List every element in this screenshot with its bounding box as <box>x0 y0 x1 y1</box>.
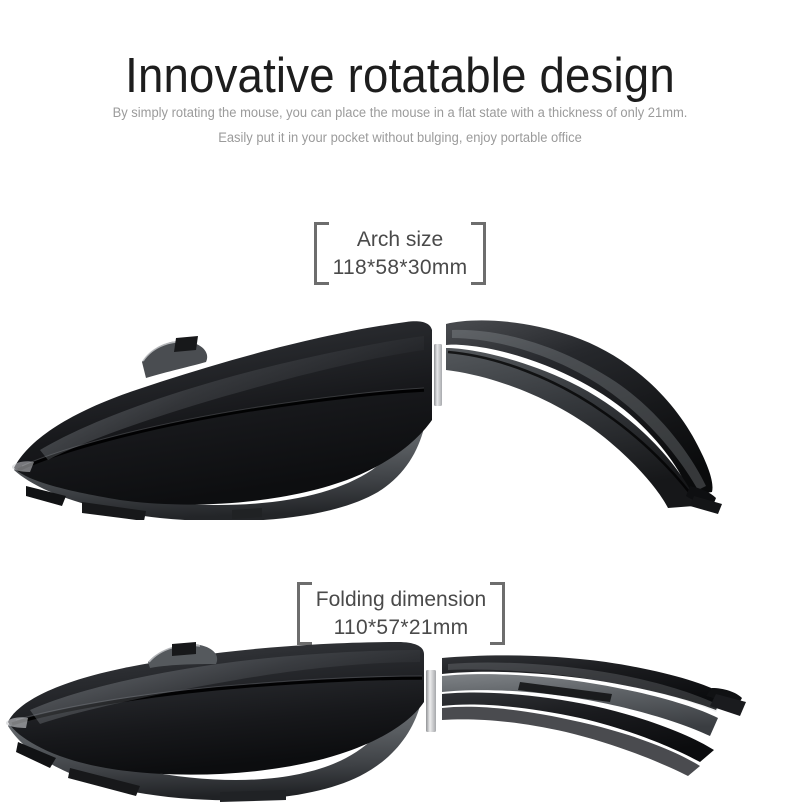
spec-name-folding: Folding dimension <box>316 586 486 614</box>
spec-label-arch: Arch size 118*58*30mm <box>299 222 501 285</box>
bracket-right-icon <box>471 222 486 285</box>
product-feature-page: Innovative rotatable design By simply ro… <box>0 0 800 800</box>
page-subtitle: By simply rotating the mouse, you can pl… <box>16 100 784 150</box>
subtitle-line-1: By simply rotating the mouse, you can pl… <box>113 105 688 120</box>
mouse-arched-scroll-wheel <box>174 336 198 352</box>
spec-text-arch: Arch size 118*58*30mm <box>329 222 472 285</box>
bracket-left-icon <box>297 582 312 645</box>
spec-text-folding: Folding dimension 110*57*21mm <box>312 582 490 645</box>
bracket-left-icon <box>314 222 329 285</box>
bracket-right-icon <box>490 582 505 645</box>
mouse-arched-hinge-metal <box>434 344 442 406</box>
product-image-folded-mouse <box>0 640 800 805</box>
product-image-arched-mouse <box>0 300 800 520</box>
mouse-folded-foot-right <box>220 790 286 802</box>
mouse-folded-hinge-metal <box>426 670 436 732</box>
spec-label-folding: Folding dimension 110*57*21mm <box>301 582 501 645</box>
spec-dimensions-folding: 110*57*21mm <box>316 614 486 642</box>
spec-name-arch: Arch size <box>333 226 468 254</box>
mouse-folded-scroll-wheel <box>172 642 196 656</box>
subtitle-line-2: Easily put it in your pocket without bul… <box>16 125 784 150</box>
spec-dimensions-arch: 118*58*30mm <box>333 254 468 282</box>
page-title: Innovative rotatable design <box>28 47 772 105</box>
